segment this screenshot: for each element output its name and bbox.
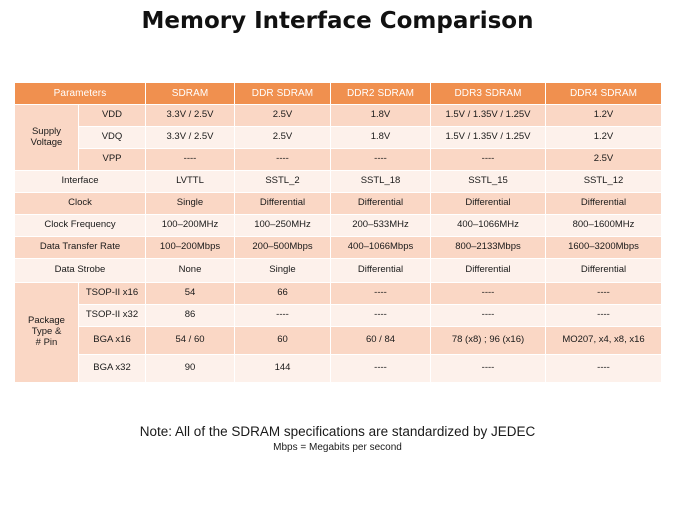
cell-vdq-ddr3: 1.5V / 1.35V / 1.25V	[431, 127, 546, 149]
row-label-vdd: VDD	[79, 105, 146, 127]
row-label-tsop2-x16: TSOP-II x16	[79, 283, 146, 305]
column-header-ddr4-sdram: DDR4 SDRAM	[546, 83, 662, 105]
cell-bga16-ddr: 60	[235, 327, 331, 355]
cell-bga16-ddr4: MO207, x4, x8, x16	[546, 327, 662, 355]
cell-bga32-ddr3: ----	[431, 355, 546, 383]
cell-dtr-ddr: 200–500Mbps	[235, 237, 331, 259]
cell-vdd-sdram: 3.3V / 2.5V	[146, 105, 235, 127]
cell-bga32-ddr2: ----	[331, 355, 431, 383]
cell-interface-ddr3: SSTL_15	[431, 171, 546, 193]
cell-clockfreq-sdram: 100–200MHz	[146, 215, 235, 237]
column-header-ddr2-sdram: DDR2 SDRAM	[331, 83, 431, 105]
table-row: BGA x32 90 144 ---- ---- ----	[15, 355, 662, 383]
cell-bga16-ddr2: 60 / 84	[331, 327, 431, 355]
cell-clock-sdram: Single	[146, 193, 235, 215]
row-label-interface: Interface	[15, 171, 146, 193]
cell-tsop32-ddr2: ----	[331, 305, 431, 327]
cell-vpp-ddr: ----	[235, 149, 331, 171]
cell-tsop16-ddr2: ----	[331, 283, 431, 305]
cell-tsop32-ddr3: ----	[431, 305, 546, 327]
cell-vdd-ddr2: 1.8V	[331, 105, 431, 127]
cell-bga32-ddr4: ----	[546, 355, 662, 383]
table-row: PackageType &# Pin TSOP-II x16 54 66 ---…	[15, 283, 662, 305]
cell-tsop16-ddr: 66	[235, 283, 331, 305]
cell-dtr-sdram: 100–200Mbps	[146, 237, 235, 259]
cell-tsop16-ddr3: ----	[431, 283, 546, 305]
package-label-line2: Type &	[32, 326, 62, 337]
slide-root: Memory Interface Comparison Parameters S…	[0, 0, 675, 506]
table-row: VDQ 3.3V / 2.5V 2.5V 1.8V 1.5V / 1.35V /…	[15, 127, 662, 149]
row-label-tsop2-x32: TSOP-II x32	[79, 305, 146, 327]
group-label-line1: Supply	[32, 126, 61, 137]
cell-bga16-sdram: 54 / 60	[146, 327, 235, 355]
table-row: Clock Single Differential Differential D…	[15, 193, 662, 215]
row-label-clock: Clock	[15, 193, 146, 215]
row-label-vdq: VDQ	[79, 127, 146, 149]
group-label-line2: Voltage	[31, 137, 63, 148]
cell-interface-sdram: LVTTL	[146, 171, 235, 193]
cell-strobe-ddr2: Differential	[331, 259, 431, 283]
table-row: Data Strobe None Single Differential Dif…	[15, 259, 662, 283]
column-header-ddr3-sdram: DDR3 SDRAM	[431, 83, 546, 105]
cell-vdq-sdram: 3.3V / 2.5V	[146, 127, 235, 149]
row-label-vpp: VPP	[79, 149, 146, 171]
cell-bga32-sdram: 90	[146, 355, 235, 383]
cell-dtr-ddr3: 800–2133Mbps	[431, 237, 546, 259]
table-header: Parameters SDRAM DDR SDRAM DDR2 SDRAM DD…	[15, 83, 662, 105]
row-label-data-transfer-rate: Data Transfer Rate	[15, 237, 146, 259]
table-row: Data Transfer Rate 100–200Mbps 200–500Mb…	[15, 237, 662, 259]
cell-bga16-ddr3: 78 (x8) ; 96 (x16)	[431, 327, 546, 355]
table-row: VPP ---- ---- ---- ---- 2.5V	[15, 149, 662, 171]
cell-tsop32-sdram: 86	[146, 305, 235, 327]
page-title: Memory Interface Comparison	[0, 8, 675, 34]
cell-clockfreq-ddr3: 400–1066MHz	[431, 215, 546, 237]
cell-vpp-ddr3: ----	[431, 149, 546, 171]
note-primary: Note: All of the SDRAM specifications ar…	[0, 424, 675, 439]
group-label-package-type-pin: PackageType &# Pin	[15, 283, 79, 383]
cell-vdq-ddr: 2.5V	[235, 127, 331, 149]
table-row: Clock Frequency 100–200MHz 100–250MHz 20…	[15, 215, 662, 237]
cell-strobe-sdram: None	[146, 259, 235, 283]
cell-vpp-sdram: ----	[146, 149, 235, 171]
cell-interface-ddr: SSTL_2	[235, 171, 331, 193]
table-row: SupplyVoltage VDD 3.3V / 2.5V 2.5V 1.8V …	[15, 105, 662, 127]
column-header-ddr-sdram: DDR SDRAM	[235, 83, 331, 105]
package-label-line1: Package	[28, 315, 65, 326]
cell-interface-ddr2: SSTL_18	[331, 171, 431, 193]
cell-dtr-ddr4: 1600–3200Mbps	[546, 237, 662, 259]
column-header-sdram: SDRAM	[146, 83, 235, 105]
cell-clockfreq-ddr2: 200–533MHz	[331, 215, 431, 237]
cell-strobe-ddr3: Differential	[431, 259, 546, 283]
cell-vpp-ddr2: ----	[331, 149, 431, 171]
cell-tsop32-ddr: ----	[235, 305, 331, 327]
row-label-clock-frequency: Clock Frequency	[15, 215, 146, 237]
cell-clock-ddr2: Differential	[331, 193, 431, 215]
table-row: BGA x16 54 / 60 60 60 / 84 78 (x8) ; 96 …	[15, 327, 662, 355]
cell-clockfreq-ddr4: 800–1600MHz	[546, 215, 662, 237]
cell-dtr-ddr2: 400–1066Mbps	[331, 237, 431, 259]
row-label-data-strobe: Data Strobe	[15, 259, 146, 283]
cell-clock-ddr3: Differential	[431, 193, 546, 215]
cell-strobe-ddr4: Differential	[546, 259, 662, 283]
column-header-parameters: Parameters	[15, 83, 146, 105]
row-label-bga-x32: BGA x32	[79, 355, 146, 383]
row-label-bga-x16: BGA x16	[79, 327, 146, 355]
table-row: TSOP-II x32 86 ---- ---- ---- ----	[15, 305, 662, 327]
table-row: Interface LVTTL SSTL_2 SSTL_18 SSTL_15 S…	[15, 171, 662, 193]
cell-vdd-ddr4: 1.2V	[546, 105, 662, 127]
footer-note: Note: All of the SDRAM specifications ar…	[0, 424, 675, 453]
cell-tsop16-ddr4: ----	[546, 283, 662, 305]
cell-bga32-ddr: 144	[235, 355, 331, 383]
header-row: Parameters SDRAM DDR SDRAM DDR2 SDRAM DD…	[15, 83, 662, 105]
cell-clock-ddr: Differential	[235, 193, 331, 215]
cell-vdd-ddr: 2.5V	[235, 105, 331, 127]
cell-vpp-ddr4: 2.5V	[546, 149, 662, 171]
note-secondary: Mbps = Megabits per second	[0, 442, 675, 453]
cell-strobe-ddr: Single	[235, 259, 331, 283]
cell-clockfreq-ddr: 100–250MHz	[235, 215, 331, 237]
cell-tsop16-sdram: 54	[146, 283, 235, 305]
group-label-supply-voltage: SupplyVoltage	[15, 105, 79, 171]
memory-interface-comparison-table: Parameters SDRAM DDR SDRAM DDR2 SDRAM DD…	[14, 82, 662, 383]
cell-interface-ddr4: SSTL_12	[546, 171, 662, 193]
cell-vdd-ddr3: 1.5V / 1.35V / 1.25V	[431, 105, 546, 127]
comparison-table-wrapper: Parameters SDRAM DDR SDRAM DDR2 SDRAM DD…	[14, 82, 661, 383]
cell-vdq-ddr4: 1.2V	[546, 127, 662, 149]
package-label-line3: # Pin	[36, 337, 58, 348]
cell-clock-ddr4: Differential	[546, 193, 662, 215]
cell-tsop32-ddr4: ----	[546, 305, 662, 327]
table-body: SupplyVoltage VDD 3.3V / 2.5V 2.5V 1.8V …	[15, 105, 662, 383]
cell-vdq-ddr2: 1.8V	[331, 127, 431, 149]
